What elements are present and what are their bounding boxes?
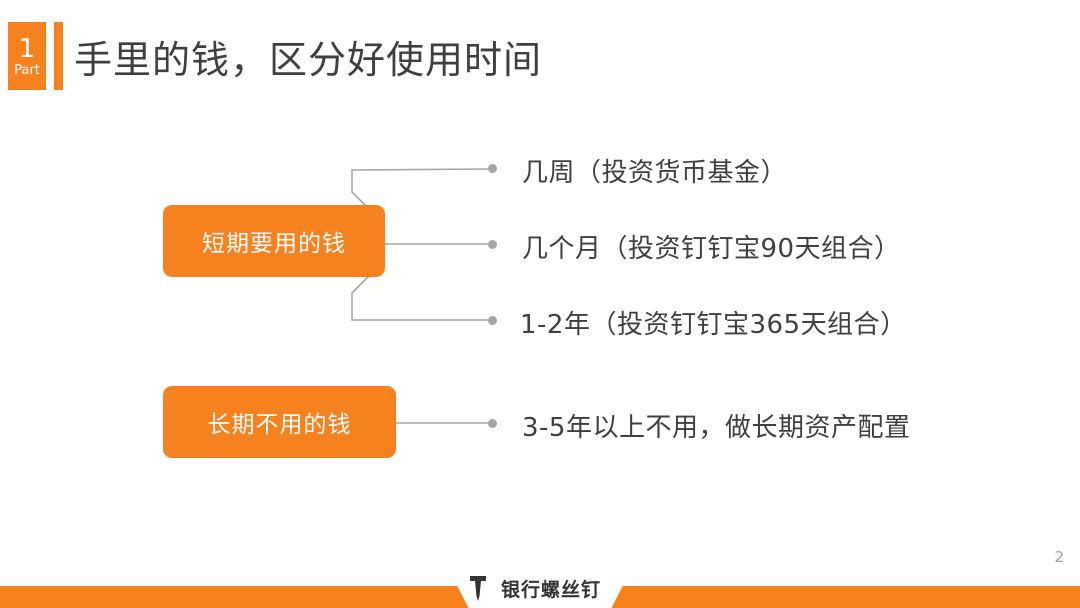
- bullet-dot: [488, 316, 497, 325]
- footer-brand-plate: 银行螺丝钉: [446, 564, 634, 608]
- list-item: 几周（投资货币基金）: [522, 152, 787, 189]
- node-long-term-label: 长期不用的钱: [208, 405, 352, 439]
- page-number: 2: [1054, 548, 1064, 566]
- title-accent-bar: [54, 22, 63, 90]
- screw-icon: [470, 576, 486, 602]
- list-item: 3-5年以上不用，做长期资产配置: [522, 407, 910, 444]
- bullet-dot: [488, 164, 497, 173]
- page-title: 手里的钱，区分好使用时间: [74, 29, 542, 84]
- list-item: 1-2年（投资钉钉宝365天组合）: [520, 304, 907, 341]
- node-long-term[interactable]: 长期不用的钱: [163, 386, 396, 458]
- bullet-dot: [488, 419, 497, 428]
- footer-brand-label: 银行螺丝钉: [479, 571, 601, 602]
- bullet-dot: [488, 240, 497, 249]
- part-word: Part: [14, 64, 40, 77]
- list-item: 几个月（投资钉钉宝90天组合）: [522, 228, 901, 265]
- part-badge: 1 Part: [8, 22, 46, 90]
- node-short-term[interactable]: 短期要用的钱: [163, 205, 385, 277]
- diagram: 短期要用的钱 长期不用的钱 几周（投资货币基金） 几个月（投资钉钉宝90天组合）…: [0, 120, 1080, 500]
- part-number: 1: [19, 36, 36, 62]
- node-short-term-label: 短期要用的钱: [202, 224, 346, 258]
